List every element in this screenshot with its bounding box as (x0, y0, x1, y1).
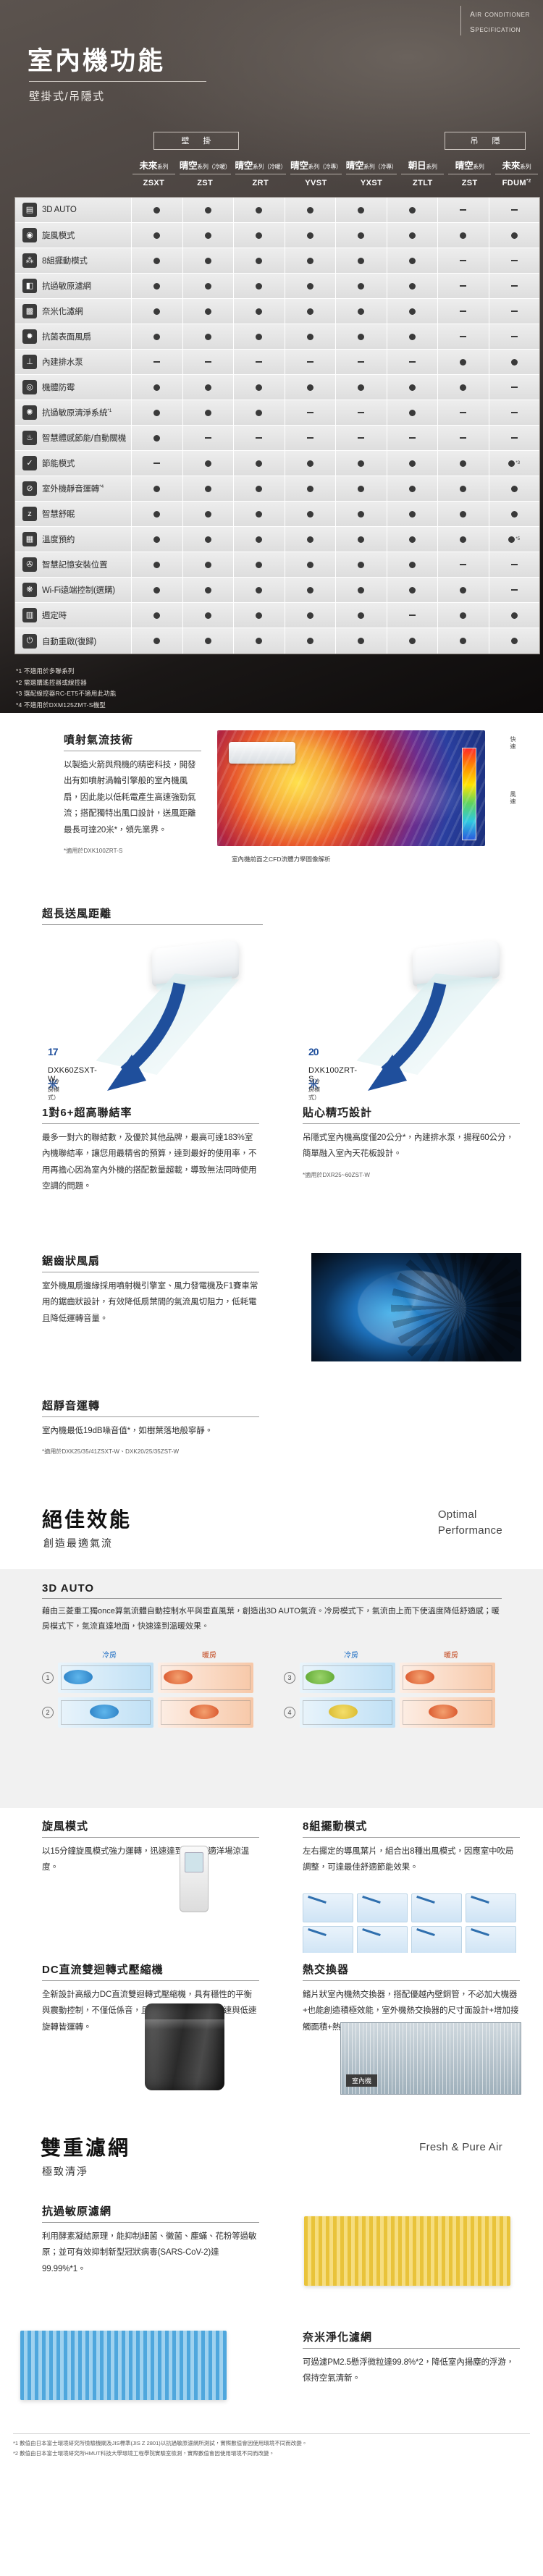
feature-value-cell (335, 223, 387, 248)
feature-value-cell (387, 451, 438, 476)
feature-value-cell (131, 248, 182, 273)
jet-text-block: 噴射氣流技術 以製造火箭與飛機的精密科技，開發出有如噴射渦輪引擎般的室內機風扇，… (64, 732, 201, 855)
feature-value-cells (131, 552, 539, 577)
feature-value-cell (285, 527, 336, 552)
spec-feature-row: ⏻自動重啟(復歸) (15, 628, 539, 654)
feature-name-cell: ❋Wi-Fi遠端控制(選購) (15, 583, 131, 597)
swing-pattern-tile (303, 1926, 353, 1955)
feature-label: 抗菌表面風扇 (42, 331, 91, 342)
footnote-line: *4 不適用於DXM125ZMT-S機型 (16, 700, 117, 711)
spec-column-header: 晴空系列（冷暖）ZRT (233, 161, 289, 187)
spec-feature-row: ♨智慧體感節能/自動關機 (15, 426, 539, 451)
feature-value-cell (489, 274, 540, 298)
feature-value-cell (182, 248, 234, 273)
feature-value-cell (233, 400, 285, 425)
feature-value-cells (131, 350, 539, 374)
feature-value-cell (233, 299, 285, 324)
feature-value-cell (489, 502, 540, 526)
feature-name-cell: ▩奈米化濾網 (15, 304, 131, 318)
feature-value-cell (387, 502, 438, 526)
swing-pattern-tile (411, 1893, 462, 1922)
feature-value-cell (233, 375, 285, 400)
quiet-outdoor-icon: ⊘ (22, 481, 37, 496)
feature-value-cells (131, 502, 539, 526)
feature-value-cell (182, 451, 234, 476)
auto3d-warm-cell (400, 1663, 495, 1693)
feature-value-cell (335, 324, 387, 349)
feature-label: 智慧舒眠 (42, 508, 75, 520)
auto3d-quad-right: 冷房 暖房 3 4 (284, 1649, 501, 1721)
feature-value-cell (182, 476, 234, 501)
jet-airflow-section: 噴射氣流技術 以製造火箭與飛機的精密科技，開發出有如噴射渦輪引擎般的室內機風扇，… (0, 713, 543, 894)
feature-value-cell (233, 426, 285, 450)
feature-value-cell (131, 578, 182, 602)
auto3d-title: 3D AUTO (42, 1582, 502, 1599)
airflow-color-scale (462, 748, 476, 840)
spec-feature-row: ⊘室外機靜音運轉*4 (15, 476, 539, 502)
performance-subtitle: 創造最適氣流 (43, 1536, 113, 1550)
memory-position-icon: ✇ (22, 557, 37, 572)
quiet-operation-section: 超靜音運轉 室內機最低19dB噪音值*，如樹葉落地般寧靜。 *適用於DXK25/… (0, 1393, 543, 1491)
jet-art-caption: 室內機前面之CFD流體力學圖像解析 (232, 855, 330, 863)
feature-value-cell (285, 198, 336, 222)
spec-column-header: 未來系列FDUM*2 (493, 161, 540, 187)
feature-value-cell (131, 476, 182, 501)
3d-auto-icon: ▤ (22, 203, 37, 217)
scale-label-fast: 快速 (509, 736, 517, 751)
feature-value-cell (335, 527, 387, 552)
spec-column-header: 晴空系列ZST (446, 161, 493, 187)
feature-value-cell (285, 476, 336, 501)
cyclone-body: 以15分鐘旋風模式強力運轉，迅速達到身體最適洋場涼溫度。 (42, 1844, 259, 1876)
feature-value-cell (437, 578, 489, 602)
feature-value-cell (387, 299, 438, 324)
auto3d-head-right: 冷房 暖房 (284, 1649, 501, 1660)
nano-filter-section: 奈米淨化濾網 可過濾PM2.5懸浮微粒達99.8%*2，降低室內揚塵的浮游，保持… (0, 2318, 543, 2433)
feature-value-cell (335, 578, 387, 602)
feature-value-cell (131, 426, 182, 450)
feature-value-cell (285, 628, 336, 654)
feature-value-cell (233, 527, 285, 552)
feature-value-cell (182, 324, 234, 349)
spec-column-header: 晴空系列（冷暖）ZST (177, 161, 233, 187)
feature-value-cell (335, 426, 387, 450)
swing-icon: ⁂ (22, 253, 37, 268)
cyclone-title: 旋風模式 (42, 1818, 259, 1838)
feature-value-cell (285, 552, 336, 577)
feature-value-cell (489, 628, 540, 654)
feature-value-cell (233, 552, 285, 577)
smart-sensor-icon: ♨ (22, 431, 37, 445)
auto3d-step-number: 1 (42, 1672, 54, 1684)
scale-label-speed: 風速 (509, 791, 517, 806)
feature-value-cell (437, 198, 489, 222)
auto-restart-icon: ⏻ (22, 634, 37, 649)
allergen-filter-image (304, 2216, 510, 2286)
feature-value-cell (285, 400, 336, 425)
feature-value-cells (131, 426, 539, 450)
jet-title: 噴射氣流技術 (64, 732, 201, 751)
sawtooth-fan-image (311, 1253, 521, 1361)
feature-value-cell (489, 248, 540, 273)
feature-value-cell (335, 375, 387, 400)
feature-name-cell: z智慧舒眠 (15, 507, 131, 521)
nano-filter-image (20, 2331, 227, 2400)
feature-value-cell (131, 350, 182, 374)
quiet-title: 超靜音運轉 (42, 1398, 259, 1417)
filters-english: Fresh & Pure Air (419, 2141, 502, 2153)
feature-value-cell (437, 248, 489, 273)
feature-value-cell (387, 476, 438, 501)
feature-value-cell (285, 274, 336, 298)
auto3d-label-cool-l: 冷房 (59, 1649, 159, 1660)
column-series-label: 晴空系列（冷暖） (235, 161, 287, 174)
footnote-line: *2 需選購遙控器或線控器 (16, 677, 117, 689)
feature-value-cell (489, 552, 540, 577)
airflow-arrow-left (94, 969, 253, 1099)
connectivity-compact-section: 1對6+超高聯結率 最多一對六的聯結數，及優於其他品牌，最高可達183%室內機聯… (0, 1100, 543, 1249)
spec-feature-row: ◎機體防霉 (15, 375, 539, 400)
feature-value-cell (489, 375, 540, 400)
page-subtitle: 壁掛式/吊隱式 (29, 88, 105, 104)
feature-value-cell (437, 527, 489, 552)
nano-block: 奈米淨化濾網 可過濾PM2.5懸浮微粒達99.8%*2，降低室內揚塵的浮游，保持… (303, 2329, 520, 2387)
feature-value-cell (285, 324, 336, 349)
feature-value-cell (285, 350, 336, 374)
compact-title: 貼心精巧設計 (303, 1105, 520, 1124)
connectivity-title: 1對6+超高聯結率 (42, 1105, 259, 1124)
auto3d-warm-cell (400, 1697, 495, 1728)
column-model-code: YVST (288, 174, 344, 187)
feature-value-cell (489, 198, 540, 222)
column-series-label: 晴空系列（冷暖） (180, 161, 231, 174)
feature-value-cell (182, 274, 234, 298)
feature-value-cells (131, 248, 539, 273)
auto3d-cool-cell (58, 1697, 153, 1728)
feature-value-cells (131, 223, 539, 248)
feature-value-cell (387, 324, 438, 349)
filters-title: 雙重濾網 (41, 2132, 130, 2161)
performance-en-line2: Performance (438, 1523, 502, 1539)
spec-column-header: 未來系列ZSXT (130, 161, 177, 187)
nano-body: 可過濾PM2.5懸浮微粒達99.8%*2，降低室內揚塵的浮游，保持空氣清新。 (303, 2355, 520, 2387)
auto3d-cool-cell (300, 1663, 395, 1693)
distance-mode-left: （冷房模式） (48, 1078, 59, 1102)
feature-value-cells (131, 274, 539, 298)
feature-value-cell (131, 628, 182, 654)
antibacterial-fan-icon: ✹ (22, 329, 37, 344)
feature-value-cell (437, 223, 489, 248)
feature-value-cell (489, 324, 540, 349)
auto3d-step-row: 1 (42, 1663, 259, 1693)
column-series-label: 晴空系列（冷專） (290, 161, 342, 174)
performance-english: Optimal Performance (438, 1507, 502, 1539)
remote-control-image (180, 1846, 209, 1912)
spec-feature-row: ▥週定時 (15, 603, 539, 628)
feature-value-cell (233, 502, 285, 526)
feature-value-cells: *3 (131, 451, 539, 476)
feature-value-cell (233, 324, 285, 349)
swing8-title: 8組擺動模式 (303, 1818, 520, 1838)
feature-value-cell (437, 375, 489, 400)
feature-value-cell (387, 603, 438, 628)
feature-value-cell (335, 502, 387, 526)
allergen-body: 利用酵素凝結原理，能抑制細菌、黴菌、塵蟎、花粉等過敏原；並可有效抑制新型冠狀病毒… (42, 2229, 259, 2277)
feature-value-cell (437, 324, 489, 349)
feature-name-cell: ✓節能模式 (15, 456, 131, 470)
feature-name-cell: ◎機體防霉 (15, 380, 131, 394)
feature-value-cell (285, 299, 336, 324)
spec-feature-row: ✓節能模式*3 (15, 451, 539, 476)
feature-value-cells: *5 (131, 527, 539, 552)
auto3d-section: 3D AUTO 藉由三菱重工獨once算氣流體自動控制水平與垂直風葉，創造出3D… (0, 1569, 543, 1808)
feature-value-cell (437, 603, 489, 628)
feature-value-cell (182, 426, 234, 450)
feature-label: 溫度預約 (42, 533, 75, 545)
feature-value-cell (335, 198, 387, 222)
page-title: 室內機功能 (28, 41, 165, 77)
footnote-line: *2 數值由日本富士環境研究所HMUT科技大學環境工程學院實驗室檢測，實際數值會… (13, 2449, 530, 2459)
feature-value-cell (131, 502, 182, 526)
footnote-line: *3 選配線控器RC-ET5不適用此功能 (16, 688, 117, 700)
auto3d-quad-left: 冷房 暖房 1 2 (42, 1649, 259, 1721)
feature-value-cell (387, 578, 438, 602)
feature-value-cell (335, 476, 387, 501)
feature-label: 8組擺動模式 (42, 255, 88, 266)
spec-feature-table: ▤3D AUTO◉旋風模式⁂8組擺動模式◧抗過敏原濾網▩奈米化濾網✹抗菌表面風扇… (14, 197, 540, 654)
feature-value-cell (182, 628, 234, 654)
spec-column-header: 朝日系列ZTLT (399, 161, 446, 187)
feature-value-cell (182, 603, 234, 628)
spec-feature-row: ◧抗過敏原濾網 (15, 274, 539, 299)
feature-value-cell (285, 451, 336, 476)
feature-value-cell (489, 603, 540, 628)
feature-value-cell: *3 (489, 451, 540, 476)
column-series-label: 晴空系列（冷專） (346, 161, 397, 174)
feature-label: 3D AUTO (42, 206, 77, 214)
feature-value-cell (335, 552, 387, 577)
filters-subtitle: 極致清淨 (42, 2164, 88, 2179)
feature-value-cell (437, 400, 489, 425)
feature-value-cell (182, 552, 234, 577)
feature-value-cells (131, 375, 539, 400)
compact-block: 貼心精巧設計 吊隱式室內機高度僅20公分*，內建排水泵，揚程60公分，簡單融入室… (303, 1105, 520, 1179)
feature-name-cell: ✺抗過敏原清淨系統*1 (15, 405, 131, 420)
feature-value-cell (182, 502, 234, 526)
jet-body: 以製造火箭與飛機的精密科技，開發出有如噴射渦輪引擎般的室內機風扇，因此能以低耗電… (64, 757, 201, 838)
group-chip-wall: 壁 掛 (153, 132, 239, 150)
column-model-code: ZTLT (399, 174, 446, 187)
jet-footnote: *適用於DXK100ZRT-S (64, 847, 201, 855)
feature-label: Wi-Fi遠端控制(選購) (42, 584, 115, 596)
feature-value-cell (182, 400, 234, 425)
feature-value-cell (182, 375, 234, 400)
performance-band: 絕佳效能 創造最適氣流 Optimal Performance (0, 1491, 543, 1569)
footnote-line: *1 數值由日本富士環境研究所檢驗機關及JIS標準(JIS Z 2801)以抗過… (13, 2438, 530, 2449)
feature-value-cell (182, 527, 234, 552)
allergen-clean-icon: ✺ (22, 405, 37, 420)
feature-value-cell (437, 426, 489, 450)
auto3d-step-number: 3 (284, 1672, 295, 1684)
spec-column-header: 晴空系列（冷專）YVST (288, 161, 344, 187)
feature-value-cell (437, 451, 489, 476)
feature-value-cell (387, 375, 438, 400)
feature-value-cell (335, 603, 387, 628)
auto3d-cool-cell (300, 1697, 395, 1728)
feature-value-cell (233, 451, 285, 476)
wifi-icon: ❋ (22, 583, 37, 597)
feature-value-cell (489, 578, 540, 602)
feature-value-cell (387, 223, 438, 248)
auto3d-cool-cell (58, 1663, 153, 1693)
feature-name-cell: ▥週定時 (15, 608, 131, 622)
feature-value-cells (131, 299, 539, 324)
feature-label: 抗過敏原濾網 (42, 280, 91, 292)
feature-value-cell (437, 299, 489, 324)
allergen-filter-icon: ◧ (22, 279, 37, 293)
feature-value-cells (131, 324, 539, 349)
feature-value-cell (387, 274, 438, 298)
auto3d-warm-cell (158, 1697, 253, 1728)
feature-value-cell (489, 223, 540, 248)
quiet-footnote: *適用於DXK25/35/41ZSXT-W、DXK20/25/35ZST-W (42, 1448, 259, 1456)
feature-value-cell (131, 299, 182, 324)
feature-value-cell (387, 248, 438, 273)
feature-label: 週定時 (42, 609, 67, 621)
feature-value-cell (182, 578, 234, 602)
auto3d-step-number: 2 (42, 1707, 54, 1718)
feature-value-cell (437, 552, 489, 577)
feature-label: 智慧體感節能/自動關機 (42, 432, 126, 444)
feature-value-cell (285, 578, 336, 602)
feature-name-cell: ✇智慧記憶安裝位置 (15, 557, 131, 572)
spec-feature-row: ✹抗菌表面風扇 (15, 324, 539, 350)
spec-feature-row: z智慧舒眠 (15, 502, 539, 527)
swing8-block: 8組擺動模式 左右擺定的導風葉片，組合出8種出風模式，因應室中吹局調整，可達最佳… (303, 1818, 520, 1876)
airflow-distance-section: 超長送風距離 17米 DXK60ZSXT-W （冷房模式） 20米 (0, 894, 543, 1100)
feature-value-cell (233, 350, 285, 374)
feature-value-cell (489, 400, 540, 425)
column-model-code: FDUM*2 (493, 174, 540, 187)
compressor-image (145, 2003, 224, 2090)
feature-value-cell (182, 350, 234, 374)
feature-label: 機體防霉 (42, 381, 75, 393)
feature-value-cell (131, 324, 182, 349)
feature-value-cell (489, 299, 540, 324)
swing-pattern-tile (411, 1926, 462, 1955)
spec-table-header: 未來系列ZSXT晴空系列（冷暖）ZST晴空系列（冷暖）ZRT晴空系列（冷專）YV… (130, 161, 540, 187)
heat-exchanger-tag: 室內機 (346, 2074, 377, 2087)
feature-value-cell (233, 198, 285, 222)
feature-value-cell (335, 274, 387, 298)
feature-value-cell (387, 552, 438, 577)
feature-value-cell (335, 628, 387, 654)
feature-name-cell: ⁂8組擺動模式 (15, 253, 131, 268)
feature-value-cell (131, 527, 182, 552)
performance-en-line1: Optimal (438, 1507, 502, 1523)
auto3d-step-row: 2 (42, 1697, 259, 1728)
feature-value-cell (335, 350, 387, 374)
quiet-block: 超靜音運轉 室內機最低19dB噪音值*，如樹葉落地般寧靜。 *適用於DXK25/… (42, 1398, 259, 1456)
performance-title: 絕佳效能 (42, 1504, 132, 1533)
allergen-filter-section: 抗過敏原濾網 利用酵素凝結原理，能抑制細菌、黴菌、塵蟎、花粉等過敏原；並可有效抑… (0, 2195, 543, 2318)
feature-value-cell (387, 527, 438, 552)
feature-value-cell (131, 451, 182, 476)
feature-value-cell (437, 274, 489, 298)
feature-value-cell (233, 223, 285, 248)
feature-value-cell (489, 426, 540, 450)
title-divider (29, 81, 206, 82)
feature-value-cell (285, 248, 336, 273)
feature-value-cell (182, 198, 234, 222)
column-series-label: 未來系列 (132, 161, 175, 174)
airflow-arrow-right (355, 969, 514, 1099)
heatexchanger-title: 熱交換器 (303, 1961, 520, 1981)
connectivity-body: 最多一對六的聯結數，及優於其他品牌，最高可達183%室內機聯結率，讓您用最精省的… (42, 1130, 259, 1195)
feature-label: 抗過敏原清淨系統*1 (42, 407, 111, 418)
sawfan-quiet-section: 鋸齒狀風扇 室外機風扇邊緣採用噴射機引擎室、風力發電機及F1賽車常用的鋸齒狀設計… (0, 1249, 543, 1393)
brand-badge: Air Conditioner Specification (460, 6, 530, 35)
column-model-code: ZSXT (130, 174, 177, 187)
spec-feature-row: ⊥內建排水泵 (15, 350, 539, 375)
feature-value-cell (489, 476, 540, 501)
nano-title: 奈米淨化濾網 (303, 2329, 520, 2349)
column-model-code: ZST (177, 174, 233, 187)
feature-value-cell (131, 603, 182, 628)
feature-name-cell: ⏻自動重啟(復歸) (15, 634, 131, 649)
spec-feature-row: ✺抗過敏原清淨系統*1 (15, 400, 539, 426)
swing-pattern-tile (466, 1893, 516, 1922)
feature-label: 智慧記憶安裝位置 (42, 559, 107, 570)
modes-section: 旋風模式 以15分鐘旋風模式強力運轉，迅速達到身體最適洋場涼溫度。 8組擺動模式… (0, 1808, 543, 1953)
spec-feature-row: ❋Wi-Fi遠端控制(選購) (15, 578, 539, 603)
column-model-code: ZST (446, 174, 493, 187)
feature-value-cell (285, 426, 336, 450)
swing-pattern-tile (357, 1926, 408, 1955)
compact-footnote: *適用於DXR25~60ZST-W (303, 1171, 520, 1179)
feature-name-cell: ⊥內建排水泵 (15, 355, 131, 369)
auto3d-label-warm-r: 暖房 (401, 1649, 501, 1660)
feature-value-cells (131, 628, 539, 654)
feature-value-cell (233, 603, 285, 628)
feature-label: 奈米化濾網 (42, 305, 83, 317)
allergen-block: 抗過敏原濾網 利用酵素凝結原理，能抑制細菌、黴菌、塵蟎、花粉等過敏原；並可有效抑… (42, 2203, 259, 2277)
feature-name-cell: ✹抗菌表面風扇 (15, 329, 131, 344)
feature-value-cell (489, 350, 540, 374)
feature-name-cell: ◧抗過敏原濾網 (15, 279, 131, 293)
bottom-footnotes: *1 數值由日本富士環境研究所檢驗機關及JIS標準(JIS Z 2801)以抗過… (0, 2434, 543, 2478)
spec-column-header: 晴空系列（冷專）YXST (344, 161, 400, 187)
feature-name-cell: ♨智慧體感節能/自動關機 (15, 431, 131, 445)
auto3d-body: 藉由三菱重工獨once算氣流體自動控制水平與垂直風葉，創造出3D AUTO氣流。… (42, 1604, 502, 1634)
feature-value-cell (387, 426, 438, 450)
sawfan-body: 室外機風扇邊緣採用噴射機引擎室、風力發電機及F1賽車常用的鋸齒狀設計，有效降低扇… (42, 1278, 259, 1327)
connectivity-block: 1對6+超高聯結率 最多一對六的聯結數，及優於其他品牌，最高可達183%室內機聯… (42, 1105, 259, 1195)
swing-pattern-tile (303, 1893, 353, 1922)
feature-label: 節能模式 (42, 457, 75, 469)
spec-feature-row: ▤3D AUTO (15, 198, 539, 223)
feature-value-cell (233, 578, 285, 602)
auto3d-label-cool-r: 冷房 (301, 1649, 401, 1660)
feature-value-cell (437, 350, 489, 374)
quiet-body: 室內機最低19dB噪音值*，如樹葉落地般寧靜。 (42, 1423, 259, 1439)
anti-mold-icon: ◎ (22, 380, 37, 394)
spec-feature-row: ◉旋風模式 (15, 223, 539, 248)
auto3d-label-warm-l: 暖房 (159, 1649, 259, 1660)
dcmotor-title: DC直流雙迴轉式壓縮機 (42, 1961, 259, 1981)
feature-value-cell (387, 628, 438, 654)
spec-page: Air Conditioner Specification 室內機功能 壁掛式/… (0, 0, 543, 2478)
